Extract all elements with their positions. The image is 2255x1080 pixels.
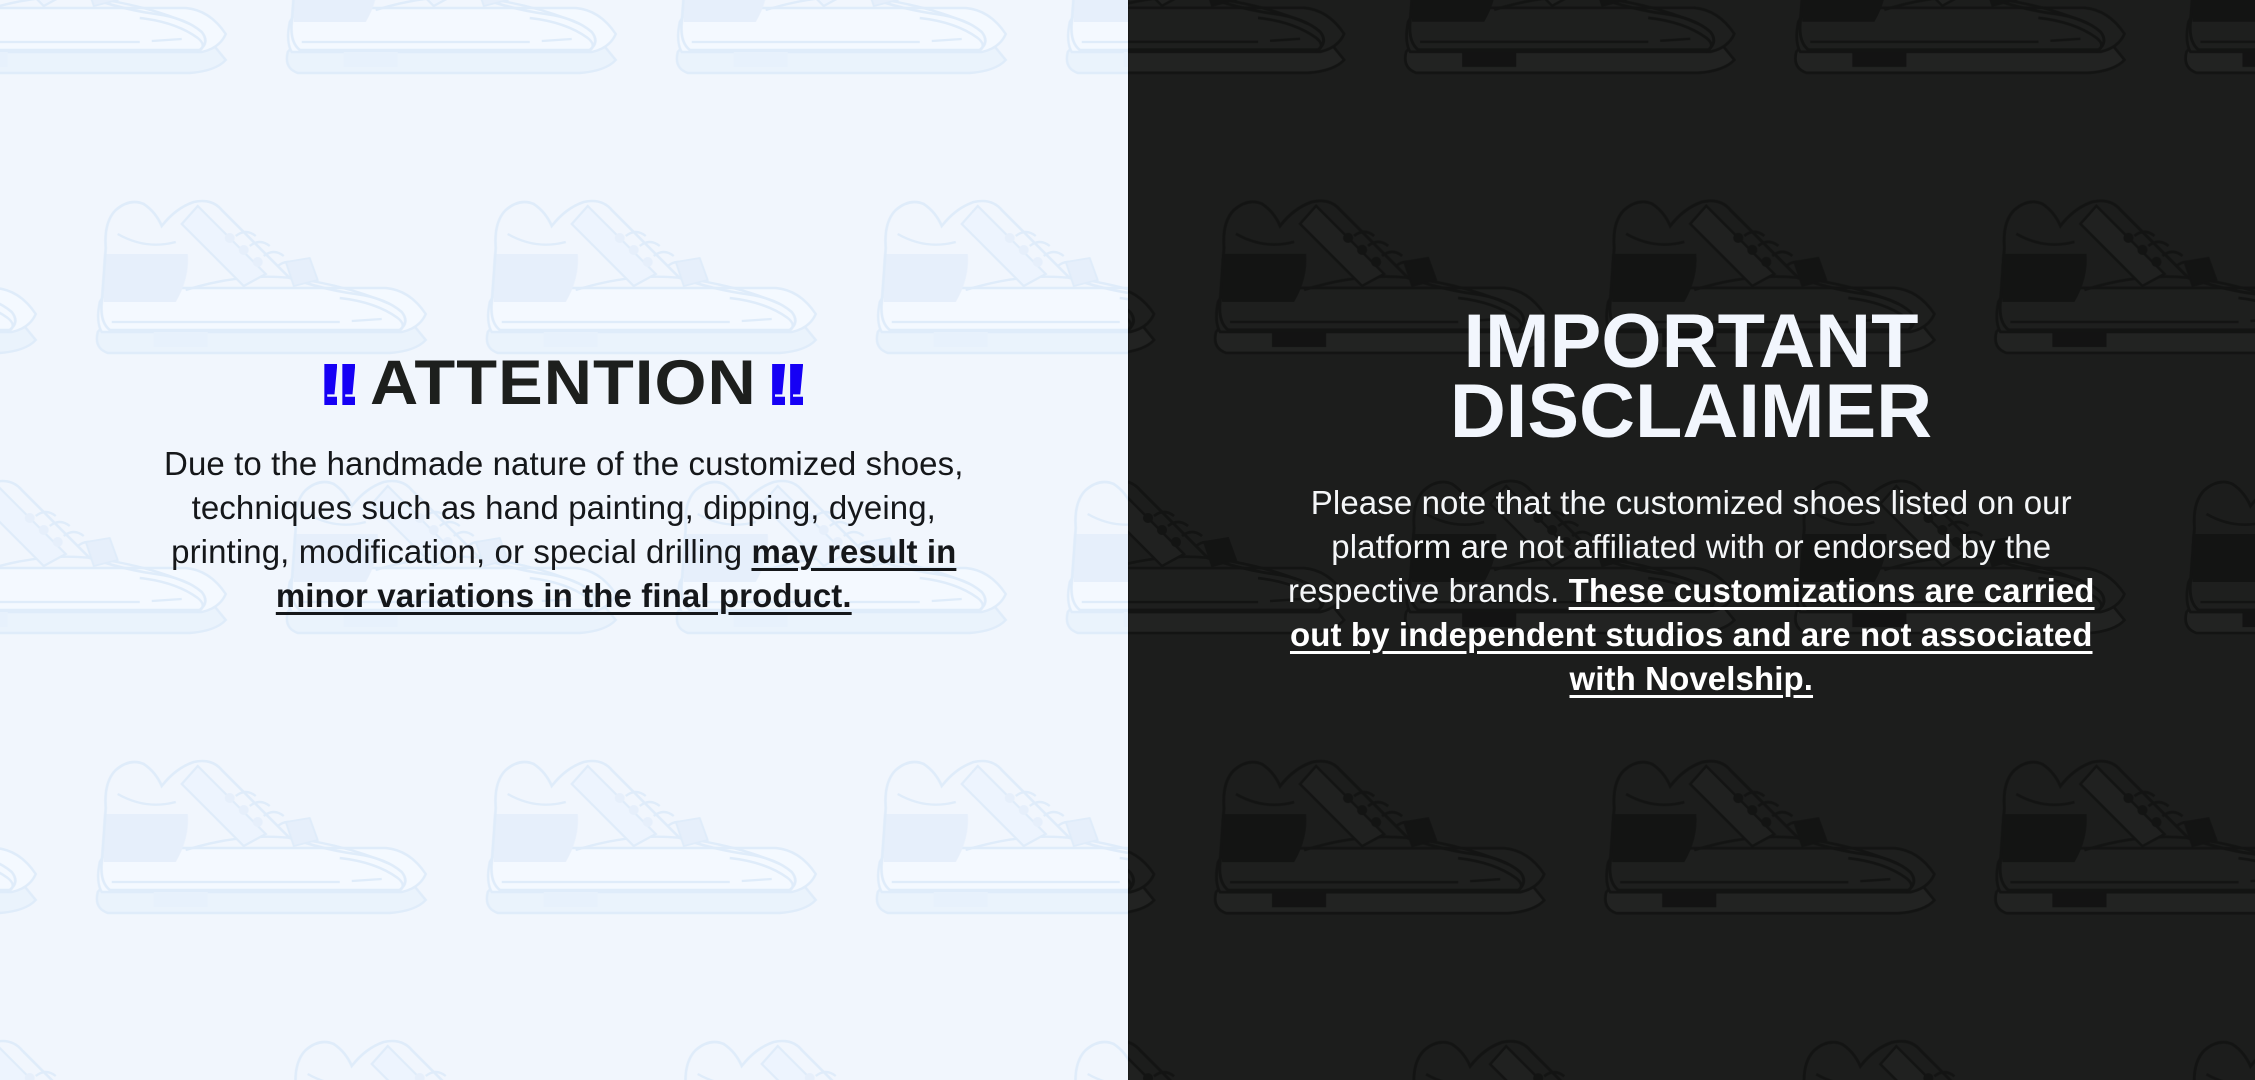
disclaimer-panel: IMPORTANT DISCLAIMER Please note that th… <box>1128 0 2255 1080</box>
disclaimer-heading-line-2: DISCLAIMER <box>1450 369 1932 454</box>
double-exclamation-icon-right <box>772 364 803 405</box>
attention-heading: ATTENTION <box>324 352 803 415</box>
disclaimer-banner: ATTENTION Due to the handmade nature of … <box>0 0 2255 1080</box>
disclaimer-body-text: Please note that the customized shoes li… <box>1281 481 2101 701</box>
attention-body-text: Due to the handmade nature of the custom… <box>154 442 974 618</box>
attention-panel: ATTENTION Due to the handmade nature of … <box>0 0 1128 1080</box>
disclaimer-heading: IMPORTANT DISCLAIMER <box>1334 307 2048 447</box>
double-exclamation-icon-left <box>324 364 355 405</box>
panel-divider <box>1128 0 1129 1080</box>
attention-heading-text: ATTENTION <box>370 352 757 415</box>
